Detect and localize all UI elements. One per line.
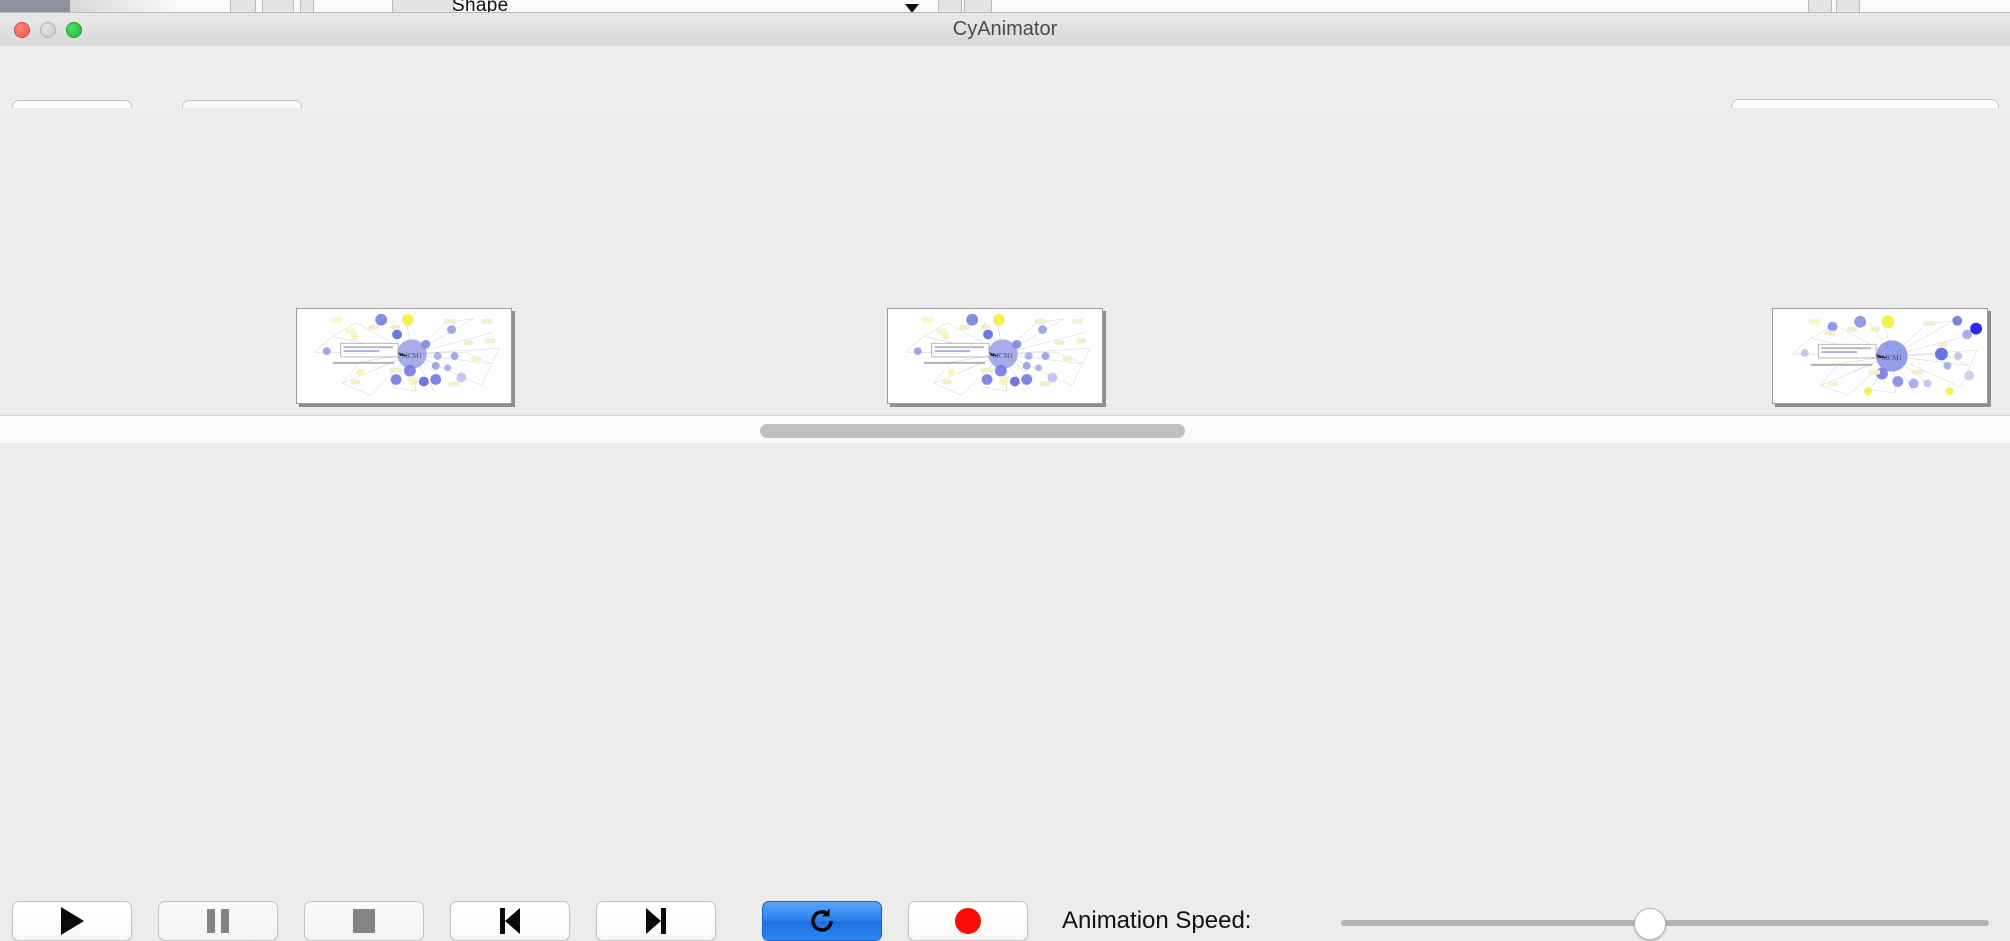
svg-text:MCM1: MCM1 bbox=[402, 353, 423, 360]
close-window-icon[interactable] bbox=[14, 22, 30, 38]
animation-speed-slider-thumb[interactable] bbox=[1634, 908, 1666, 940]
record-button[interactable] bbox=[908, 901, 1028, 941]
animation-speed-label: Animation Speed: bbox=[1062, 907, 1251, 935]
loop-button[interactable] bbox=[762, 901, 882, 941]
window-traffic-lights bbox=[14, 22, 82, 38]
next-frame-button[interactable] bbox=[596, 901, 716, 941]
timeline-frame-thumbnail[interactable]: MCM1 bbox=[1772, 308, 1988, 404]
pause-icon bbox=[207, 909, 229, 933]
skip-previous-icon bbox=[500, 908, 520, 934]
network-graph-thumbnail-2: MCM1 bbox=[888, 309, 1102, 403]
timeline-scrollbar-thumb[interactable] bbox=[760, 424, 1185, 438]
maximize-window-icon[interactable] bbox=[66, 22, 82, 38]
window-title: CyAnimator bbox=[0, 13, 2010, 46]
timeline-frame-thumbnail[interactable]: MCM1 bbox=[887, 308, 1103, 404]
stop-button[interactable] bbox=[304, 901, 424, 941]
record-icon bbox=[955, 908, 981, 934]
previous-frame-button[interactable] bbox=[450, 901, 570, 941]
transport-bar: Animation Speed: bbox=[0, 443, 2010, 510]
title-bar: CyAnimator bbox=[0, 13, 2010, 47]
timeline-panel[interactable]: MCM1 bbox=[0, 108, 2010, 413]
stop-icon bbox=[353, 909, 375, 933]
svg-text:MCM1: MCM1 bbox=[993, 353, 1014, 360]
loop-icon bbox=[807, 906, 837, 936]
cyanimator-window: Shape CyAnimator Clear All Frames bbox=[0, 0, 2010, 510]
network-graph-thumbnail-3: MCM1 bbox=[1773, 309, 1987, 403]
timeline-frame-thumbnail[interactable]: MCM1 bbox=[296, 308, 512, 404]
play-button[interactable] bbox=[12, 901, 132, 941]
network-graph-thumbnail-1: MCM1 bbox=[297, 309, 511, 403]
minimize-window-icon[interactable] bbox=[40, 22, 56, 38]
toolbar: Clear All Frames bbox=[0, 46, 2010, 109]
svg-text:MCM1: MCM1 bbox=[1882, 355, 1903, 362]
skip-next-icon bbox=[646, 908, 666, 934]
play-icon bbox=[61, 907, 84, 935]
pause-button[interactable] bbox=[158, 901, 278, 941]
background-window-strip: Shape bbox=[0, 0, 2010, 13]
